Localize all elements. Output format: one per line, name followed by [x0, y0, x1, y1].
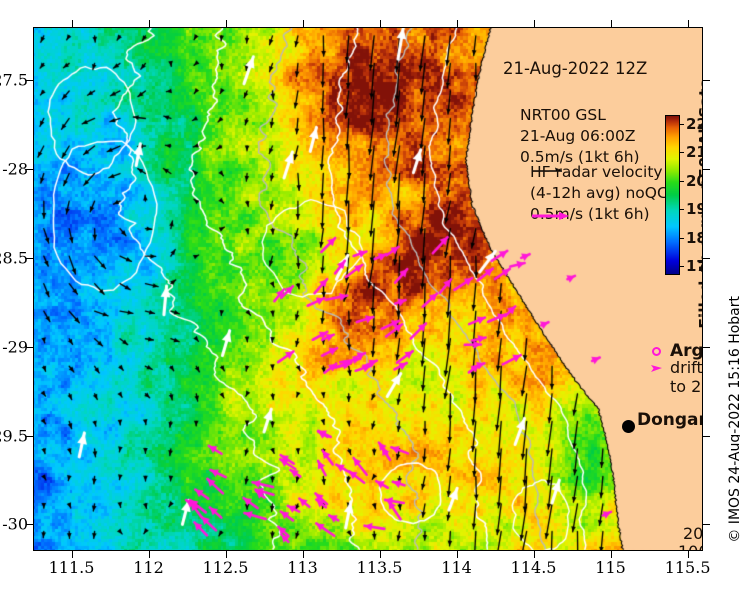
x-tick-label: 115	[595, 558, 626, 577]
colorbar-tick	[680, 181, 684, 182]
x-tick-label: 112	[133, 558, 164, 577]
x-tick	[688, 551, 689, 558]
x-tick-top	[72, 20, 73, 27]
x-tick-top	[303, 20, 304, 27]
y-tick-label: -28	[2, 160, 28, 179]
x-tick	[303, 551, 304, 558]
drifters-legend-line1: drifters@6h	[670, 358, 703, 377]
colorbar-gradient	[666, 116, 679, 274]
figure-canvas: 21-Aug-2022 12Z NRT00 GSL 21-Aug 06:00Z …	[0, 0, 740, 592]
gsl-legend-text: NRT00 GSL 21-Aug 06:00Z 0.5m/s (1kt 6h)	[520, 105, 640, 168]
colorbar-tick-label: 17	[686, 257, 703, 275]
y-tick-right	[703, 347, 710, 348]
imos-credit: © IMOS 24-Aug-2022 15:16 Hobart	[727, 296, 740, 543]
y-tick-label: -29	[2, 337, 28, 356]
y-tick-right	[703, 524, 710, 525]
y-tick-right	[703, 169, 710, 170]
colorbar-tick	[680, 209, 684, 210]
colorbar-tick-label: 19	[686, 200, 703, 218]
sst-map-panel[interactable]: 21-Aug-2022 12Z NRT00 GSL 21-Aug 06:00Z …	[33, 27, 703, 551]
y-tick-right	[703, 436, 710, 437]
x-tick-label: 115.5	[665, 558, 711, 577]
drifter-marker-icon	[650, 363, 663, 374]
colorbar-tick-label: 20	[686, 172, 703, 190]
x-tick-label: 112.5	[203, 558, 249, 577]
y-tick-label: 27.5	[0, 71, 28, 90]
hf-reference-arrow-icon	[531, 211, 571, 221]
x-tick	[380, 551, 381, 558]
x-tick-top	[380, 20, 381, 27]
colorbar-tick-label: 22	[686, 115, 703, 133]
argo-marker-icon	[652, 347, 661, 356]
x-tick-label: 113.5	[357, 558, 403, 577]
x-tick-top	[534, 20, 535, 27]
x-tick-top	[688, 20, 689, 27]
y-tick-label: 29.5	[0, 426, 28, 445]
drifters-legend-line2: to 22/08 12Z	[670, 377, 703, 396]
colorbar-tick	[680, 238, 684, 239]
x-tick-top	[611, 20, 612, 27]
y-tick-label: 28.5	[0, 248, 28, 267]
dongara-marker	[622, 420, 635, 433]
date-title: 21-Aug-2022 12Z	[503, 59, 647, 78]
colorbar-tick	[680, 124, 684, 125]
colorbar-tick	[680, 152, 684, 153]
colorbar	[665, 115, 680, 275]
colorbar-tick-label: 21	[686, 143, 703, 161]
x-tick-label: 113	[287, 558, 318, 577]
x-tick	[226, 551, 227, 558]
y-tick-right	[703, 80, 710, 81]
x-tick	[611, 551, 612, 558]
y-tick-label: -30	[2, 515, 28, 534]
x-tick-label: 114.5	[511, 558, 557, 577]
x-tick	[149, 551, 150, 558]
depth-contour-200m-label: 200m	[683, 524, 703, 543]
dongara-label: Dongara	[637, 410, 703, 430]
x-tick-top	[149, 20, 150, 27]
x-tick	[72, 551, 73, 558]
depth-contour-1000m-label: 1000m	[678, 542, 703, 551]
x-tick	[457, 551, 458, 558]
colorbar-tick	[680, 266, 684, 267]
x-tick-top	[457, 20, 458, 27]
x-tick-top	[226, 20, 227, 27]
x-tick	[534, 551, 535, 558]
y-tick-right	[703, 258, 710, 259]
x-tick-label: 114	[441, 558, 472, 577]
x-tick-label: 111.5	[49, 558, 95, 577]
colorbar-tick-label: 18	[686, 229, 703, 247]
